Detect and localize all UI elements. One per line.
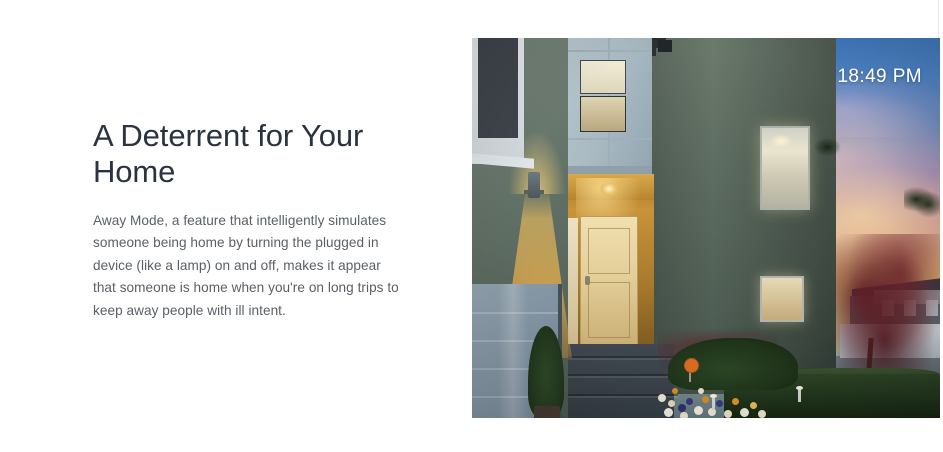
timestamp-overlay: 18:49 PM (837, 66, 922, 88)
page-title: A Deterrent for Your Home (93, 118, 403, 190)
photo-vignette (472, 38, 940, 418)
marketing-section: A Deterrent for Your Home Away Mode, a f… (0, 0, 943, 452)
page-edge-divider (938, 0, 939, 38)
feature-description: Away Mode, a feature that intelligently … (93, 210, 403, 322)
home-exterior-photo: 18:49 PM (472, 38, 940, 418)
feature-text-column: A Deterrent for Your Home Away Mode, a f… (93, 118, 403, 322)
